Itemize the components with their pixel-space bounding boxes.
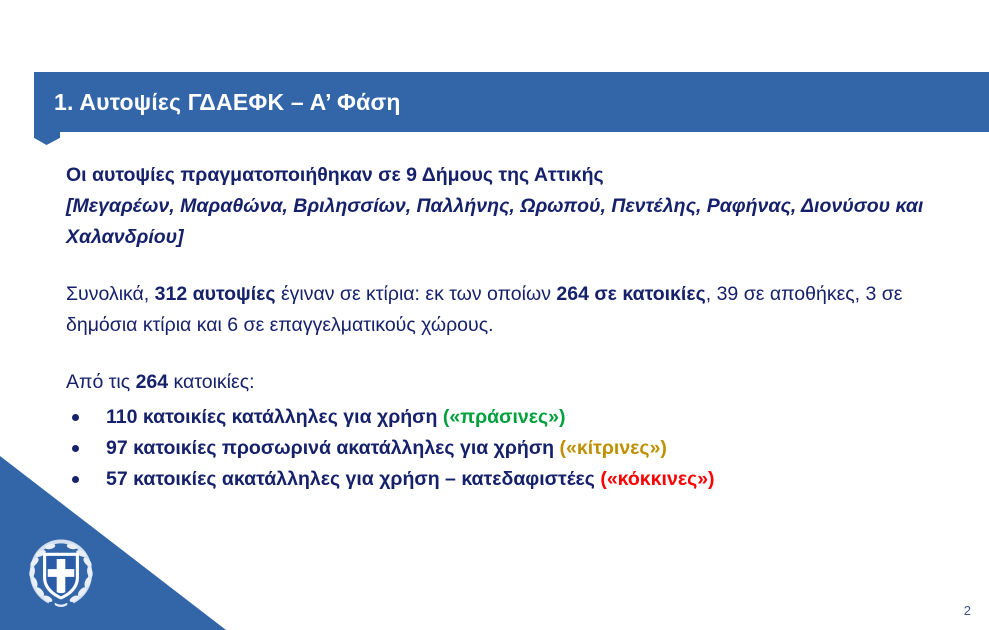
total-count-residences: 264 σε κατοικίες [556,283,705,305]
bullet-text: 57 κατοικίες ακατάλληλες για χρήση – κατ… [106,468,600,490]
bullet-dot-icon [72,414,79,421]
bullet-text: 97 κατοικίες προσωρινά ακατάλληλες για χ… [106,437,560,459]
classification-bullet-list: 110 κατοικίες κατάλληλες για χρήση («πρά… [66,402,956,495]
lead-line: Οι αυτοψίες πραγματοποιήθηκαν σε 9 Δήμου… [66,160,956,191]
list-item: 110 κατοικίες κατάλληλες για χρήση («πρά… [66,402,956,433]
list-item: 97 κατοικίες προσωρινά ακατάλληλες για χ… [66,433,956,464]
total-count-autopsies: 312 αυτοψίες [155,283,276,305]
status-badge-red: («κόκκινες») [600,468,714,490]
page-number: 2 [964,603,971,618]
bullet-text: 110 κατοικίες κατάλληλες για χρήση [106,406,443,428]
from-residences-paragraph: Από τις 264 κατοικίες: [66,367,956,398]
total-text-1: Συνολικά, [66,283,155,305]
total-text-2: έγιναν σε κτίρια: εκ των οποίων [276,283,557,305]
list-item: 57 κατοικίες ακατάλληλες για χρήση – κατ… [66,464,956,495]
spacer-1 [66,253,956,279]
from-text-1: Από τις [66,371,136,393]
from-text-2: κατοικίες: [168,371,254,393]
title-bar-notch-shape [34,132,60,145]
slide-root: 1. Αυτοψίες ΓΔΑΕΦΚ – Α’ Φάση Οι αυτοψίες… [0,0,989,630]
bullet-dot-icon [72,445,79,452]
municipalities-line: [Μεγαρέων, Μαραθώνα, Βριλησσίων, Παλλήνη… [66,191,956,253]
slide-title: 1. Αυτοψίες ΓΔΑΕΦΚ – Α’ Φάση [54,89,401,116]
total-autopsies-paragraph: Συνολικά, 312 αυτοψίες έγιναν σε κτίρια:… [66,279,956,341]
slide-title-bar: 1. Αυτοψίες ΓΔΑΕΦΚ – Α’ Φάση [34,72,989,132]
slide-content: Οι αυτοψίες πραγματοποιήθηκαν σε 9 Δήμου… [66,160,956,495]
status-badge-yellow: («κίτρινες») [560,437,667,459]
from-count: 264 [136,371,169,393]
bullet-dot-icon [72,476,79,483]
status-badge-green: («πράσινες») [443,406,566,428]
hellenic-republic-emblem-icon [22,533,100,613]
